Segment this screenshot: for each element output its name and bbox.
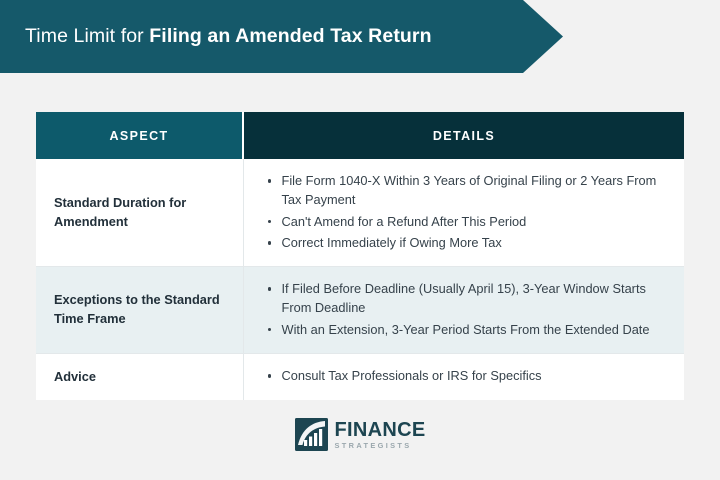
list-item: Consult Tax Professionals or IRS for Spe… (266, 367, 667, 386)
details-bullet-list: Consult Tax Professionals or IRS for Spe… (266, 367, 667, 386)
page-title-bold: Filing an Amended Tax Return (149, 25, 431, 47)
column-header-aspect: ASPECT (36, 112, 243, 159)
aspect-cell: Standard Duration for Amendment (36, 159, 243, 267)
table-header-row: ASPECT DETAILS (36, 112, 684, 159)
info-table-container: ASPECT DETAILS Standard Duration for Ame… (36, 112, 684, 400)
table-row: Advice Consult Tax Professionals or IRS … (36, 353, 684, 400)
brand-name: FINANCE (335, 420, 426, 440)
brand-logo: FINANCE STRATEGISTS (295, 418, 426, 451)
info-table: ASPECT DETAILS Standard Duration for Ame… (36, 112, 684, 400)
details-cell: If Filed Before Deadline (Usually April … (243, 267, 684, 353)
details-bullet-list: If Filed Before Deadline (Usually April … (266, 280, 667, 339)
table-row: Exceptions to the Standard Time Frame If… (36, 267, 684, 353)
footer: FINANCE STRATEGISTS (0, 418, 720, 451)
page-title-plain: Time Limit for (25, 25, 149, 47)
list-item: If Filed Before Deadline (Usually April … (266, 280, 667, 318)
details-bullet-list: File Form 1040-X Within 3 Years of Origi… (266, 172, 667, 253)
table-row: Standard Duration for Amendment File For… (36, 159, 684, 267)
list-item: File Form 1040-X Within 3 Years of Origi… (266, 172, 667, 210)
page-title: Time Limit for Filing an Amended Tax Ret… (0, 25, 432, 48)
header-banner: Time Limit for Filing an Amended Tax Ret… (0, 0, 563, 73)
column-header-details: DETAILS (243, 112, 684, 159)
table-head: ASPECT DETAILS (36, 112, 684, 159)
details-cell: Consult Tax Professionals or IRS for Spe… (243, 353, 684, 400)
list-item: With an Extension, 3-Year Period Starts … (266, 321, 667, 340)
aspect-cell: Advice (36, 353, 243, 400)
details-cell: File Form 1040-X Within 3 Years of Origi… (243, 159, 684, 267)
list-item: Correct Immediately if Owing More Tax (266, 234, 667, 253)
brand-tagline: STRATEGISTS (335, 442, 426, 449)
aspect-cell: Exceptions to the Standard Time Frame (36, 267, 243, 353)
brand-logo-text: FINANCE STRATEGISTS (335, 420, 426, 449)
table-body: Standard Duration for Amendment File For… (36, 159, 684, 400)
finance-strategists-logo-icon (295, 418, 328, 451)
list-item: Can't Amend for a Refund After This Peri… (266, 213, 667, 232)
